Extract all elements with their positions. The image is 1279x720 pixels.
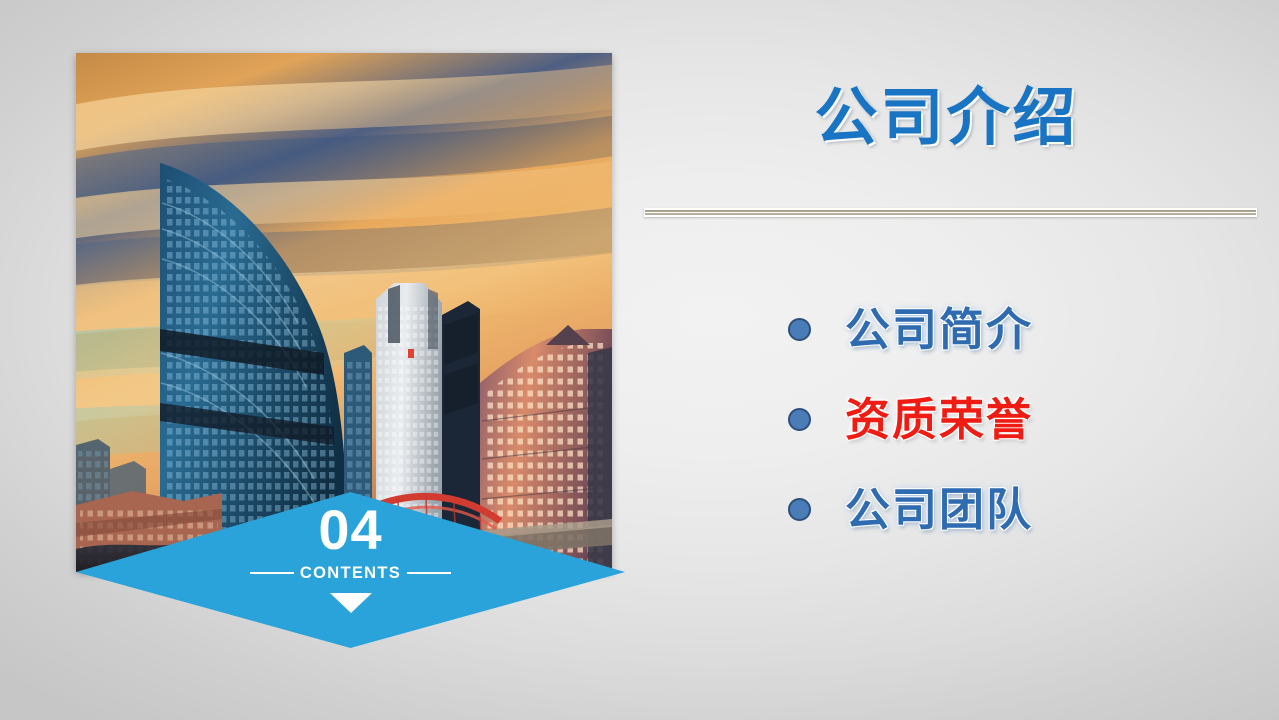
list-item-label-active: 资质荣誉 <box>845 397 1033 442</box>
bullet-dot-icon <box>788 408 811 431</box>
agenda-bullet-list: 公司简介 资质荣誉 公司团队 <box>788 284 1258 554</box>
divider-line-upper <box>645 210 1256 212</box>
bullet-dot-icon <box>788 498 811 521</box>
city-skyline-photo <box>76 53 612 572</box>
badge-rule-right <box>407 572 451 574</box>
city-skyline-photo-graphic <box>76 53 612 572</box>
right-content-panel: 公司介绍 公司简介 资质荣誉 公司团队 <box>640 0 1279 720</box>
page-title: 公司介绍 <box>640 82 1253 154</box>
title-divider <box>644 208 1257 217</box>
divider-line-lower <box>645 213 1256 215</box>
list-item-company-team[interactable]: 公司团队 <box>788 464 1258 554</box>
list-item-company-profile[interactable]: 公司简介 <box>788 284 1258 374</box>
presentation-slide: 04 CONTENTS 公司介绍 公司简介 资质荣誉 <box>0 0 1279 720</box>
down-arrow-icon <box>330 593 372 613</box>
list-item-label: 公司团队 <box>845 487 1033 532</box>
badge-rule-left <box>250 572 294 574</box>
list-item-qualifications-honors[interactable]: 资质荣誉 <box>788 374 1258 464</box>
bullet-dot-icon <box>788 318 811 341</box>
list-item-label: 公司简介 <box>845 307 1033 352</box>
